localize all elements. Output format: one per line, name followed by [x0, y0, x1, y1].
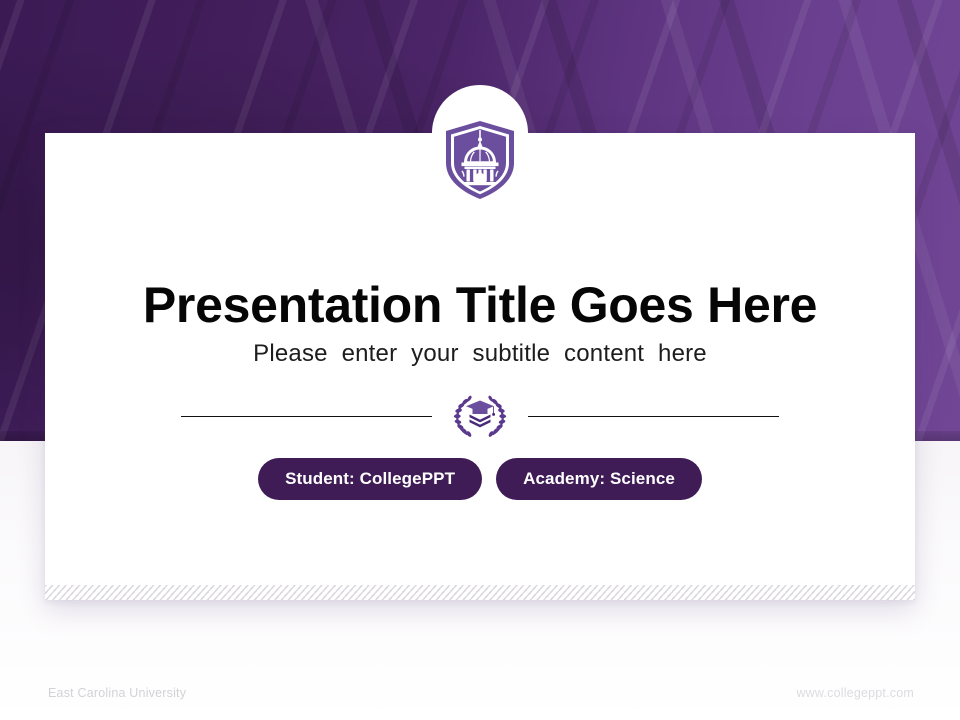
divider-rule-left [181, 416, 432, 417]
card-hatched-footer-strip [45, 585, 915, 600]
meta-pill-group: Student: CollegePPT Academy: Science [0, 458, 960, 500]
student-pill-button[interactable]: Student: CollegePPT [258, 458, 482, 500]
page-subtitle: Please enter your subtitle content here [0, 338, 960, 370]
footer-university-name: East Carolina University [48, 686, 186, 700]
academy-pill-button[interactable]: Academy: Science [496, 458, 702, 500]
divider-rule-right [528, 416, 779, 417]
footer-website-url: www.collegeppt.com [796, 686, 914, 700]
graduation-cap-wreath-icon [449, 392, 511, 440]
page-title: Presentation Title Goes Here [0, 276, 960, 334]
divider [0, 390, 960, 442]
university-crest-icon [441, 118, 519, 202]
presentation-slide: Presentation Title Goes Here Please ente… [0, 0, 960, 720]
